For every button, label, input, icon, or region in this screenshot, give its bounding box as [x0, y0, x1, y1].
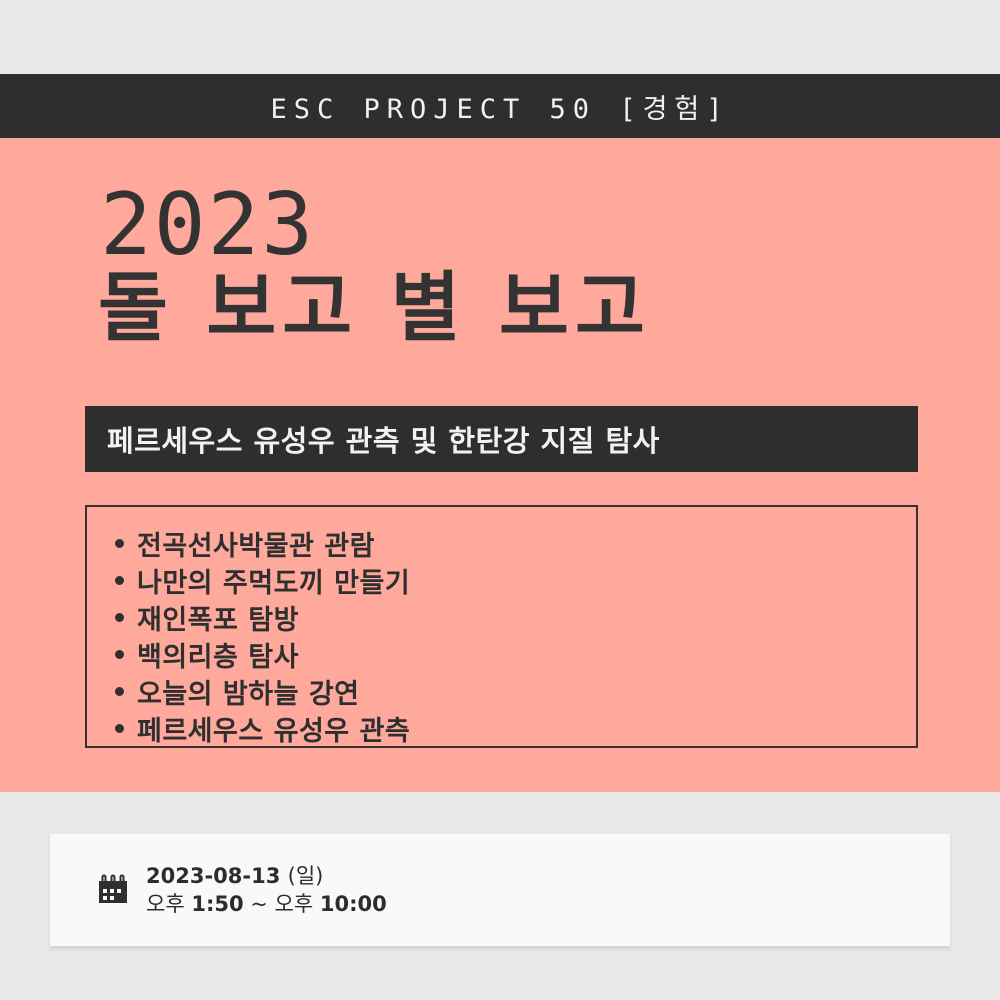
time-start-period: 오후 — [146, 892, 185, 916]
list-item: 백의리층 탐사 — [87, 636, 916, 673]
time-end-value: 10:00 — [320, 892, 387, 916]
list-item: 오늘의 밤하늘 강연 — [87, 673, 916, 710]
list-item-label: 전곡선사박물관 관람 — [137, 524, 375, 563]
list-item-label: 오늘의 밤하늘 강연 — [137, 672, 360, 711]
time-start-value: 1:50 — [191, 892, 243, 916]
bullet-icon — [115, 650, 124, 659]
list-item-label: 재인폭포 탐방 — [137, 598, 299, 637]
time-end-period: 오후 — [275, 892, 314, 916]
date-time-block: 2023-08-13 (일) 오후 1:50 ~ 오후 10:00 — [96, 862, 387, 918]
event-time: 오후 1:50 ~ 오후 10:00 — [146, 890, 387, 918]
bullet-icon — [115, 687, 124, 696]
list-item: 전곡선사박물관 관람 — [87, 525, 916, 562]
bullet-icon — [115, 613, 124, 622]
calendar-icon — [96, 873, 130, 907]
subtitle-text: 페르세우스 유성우 관측 및 한탄강 지질 탐사 — [85, 418, 660, 460]
list-item-label: 백의리층 탐사 — [137, 635, 299, 674]
list-item: 나만의 주먹도끼 만들기 — [87, 562, 916, 599]
event-day-of-week: (일) — [288, 864, 324, 888]
bullet-icon — [115, 539, 124, 548]
header-ribbon: ESC PROJECT 50 [경험] — [0, 74, 1000, 138]
list-item-label: 나만의 주먹도끼 만들기 — [137, 561, 410, 600]
project-label: ESC PROJECT 50 [경험] — [270, 87, 729, 126]
list-item: 페르세우스 유성우 관측 — [87, 710, 916, 747]
page-title: 돌 보고 별 보고 — [98, 268, 651, 348]
year-heading: 2023 — [100, 182, 315, 268]
subtitle-bar: 페르세우스 유성우 관측 및 한탄강 지질 탐사 — [85, 406, 918, 472]
program-list: 전곡선사박물관 관람 나만의 주먹도끼 만들기 재인폭포 탐방 백의리층 탐사 … — [85, 505, 918, 748]
date-text-group: 2023-08-13 (일) 오후 1:50 ~ 오후 10:00 — [146, 862, 387, 918]
event-date-value: 2023-08-13 — [146, 864, 280, 888]
list-item: 재인폭포 탐방 — [87, 599, 916, 636]
poster-root: ESC PROJECT 50 [경험] 2023 돌 보고 별 보고 페르세우스… — [0, 0, 1000, 1000]
event-date: 2023-08-13 (일) — [146, 862, 387, 890]
bullet-icon — [115, 724, 124, 733]
event-info-card: 2023-08-13 (일) 오후 1:50 ~ 오후 10:00 전곡선사박물… — [50, 834, 950, 946]
list-item-label: 페르세우스 유성우 관측 — [137, 709, 410, 748]
bullet-icon — [115, 576, 124, 585]
time-separator: ~ — [250, 892, 268, 916]
